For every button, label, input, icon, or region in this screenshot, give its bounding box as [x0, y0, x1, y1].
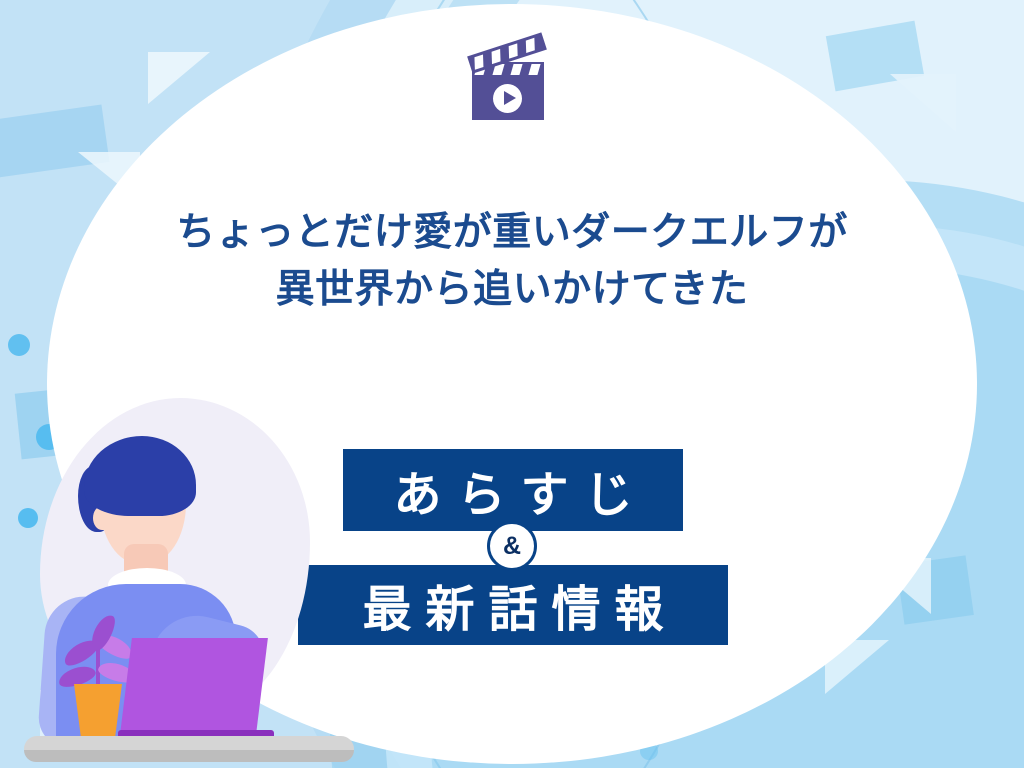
page-title: ちょっとだけ愛が重いダークエルフが 異世界から追いかけてきた: [0, 205, 1024, 318]
ampersand-badge: &: [487, 521, 537, 571]
person-at-laptop-illustration: [0, 388, 420, 768]
decor-triangle: [148, 52, 210, 104]
decor-triangle: [890, 74, 956, 132]
play-triangle-icon: [504, 91, 516, 105]
laptop-screen: [120, 638, 268, 734]
desk-shadow: [24, 750, 354, 762]
decor-dot: [8, 334, 30, 356]
clapperboard-icon: [470, 38, 548, 120]
flower-pot: [74, 684, 122, 736]
info-card: ちょっとだけ愛が重いダークエルフが 異世界から追いかけてきた あらすじ & 最新…: [0, 0, 1024, 768]
